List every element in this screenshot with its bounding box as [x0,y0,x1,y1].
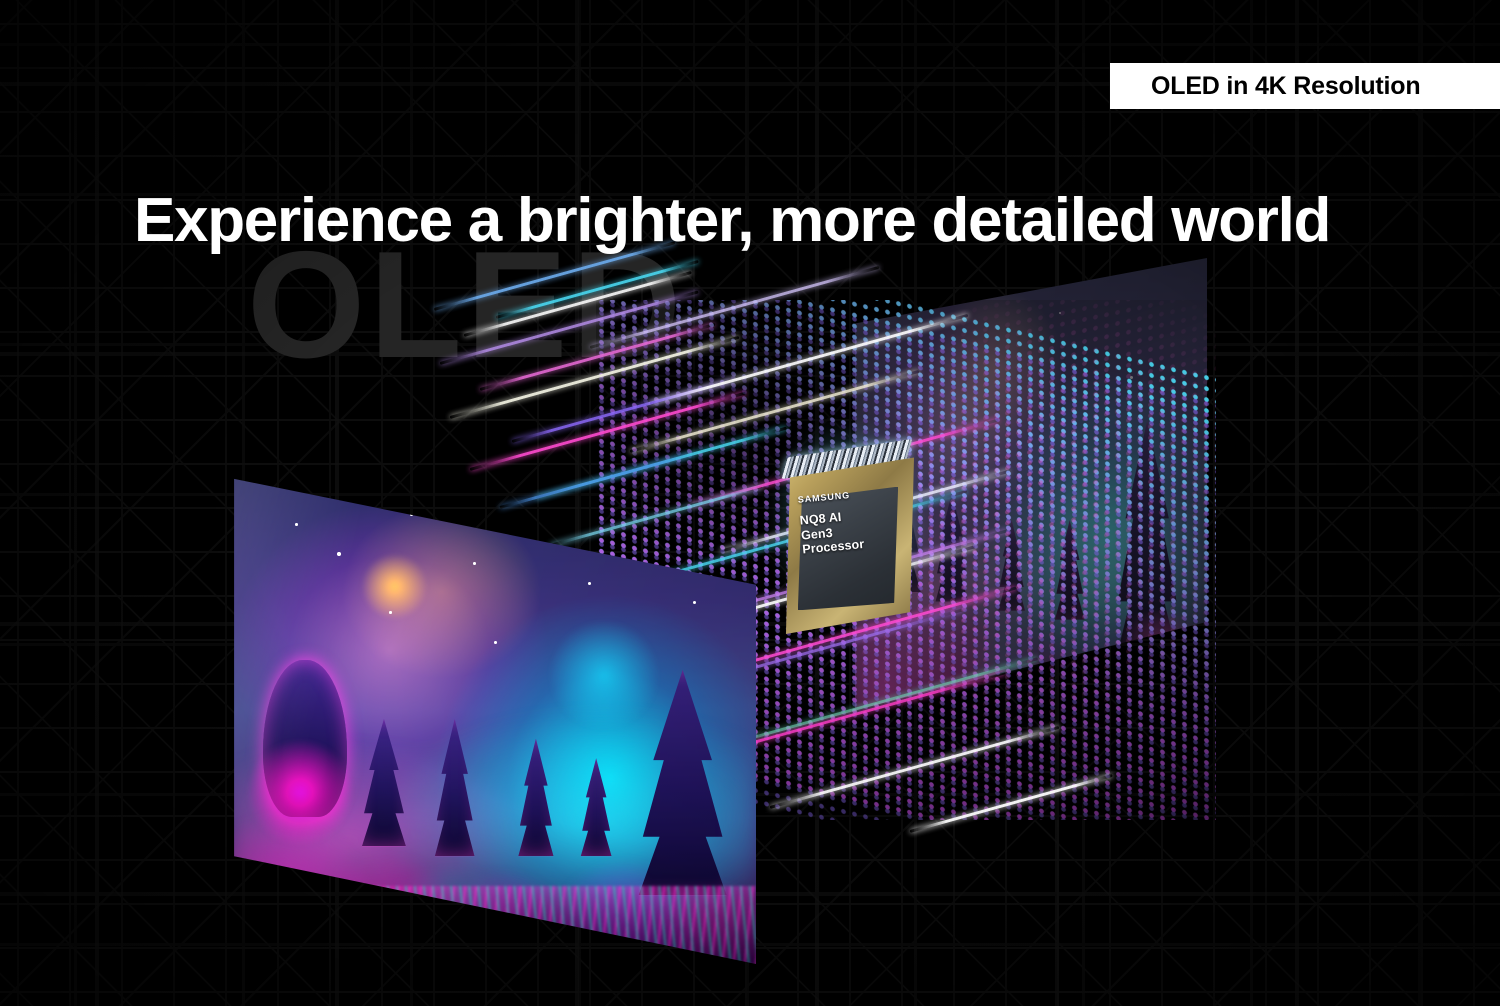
page-title: Experience a brighter, more detailed wor… [134,188,1330,253]
vignette-overlay [0,0,1500,1006]
resolution-badge: OLED in 4K Resolution [1110,63,1500,109]
promo-canvas: OLED [0,0,1500,1006]
resolution-badge-label: OLED in 4K Resolution [1110,72,1420,101]
